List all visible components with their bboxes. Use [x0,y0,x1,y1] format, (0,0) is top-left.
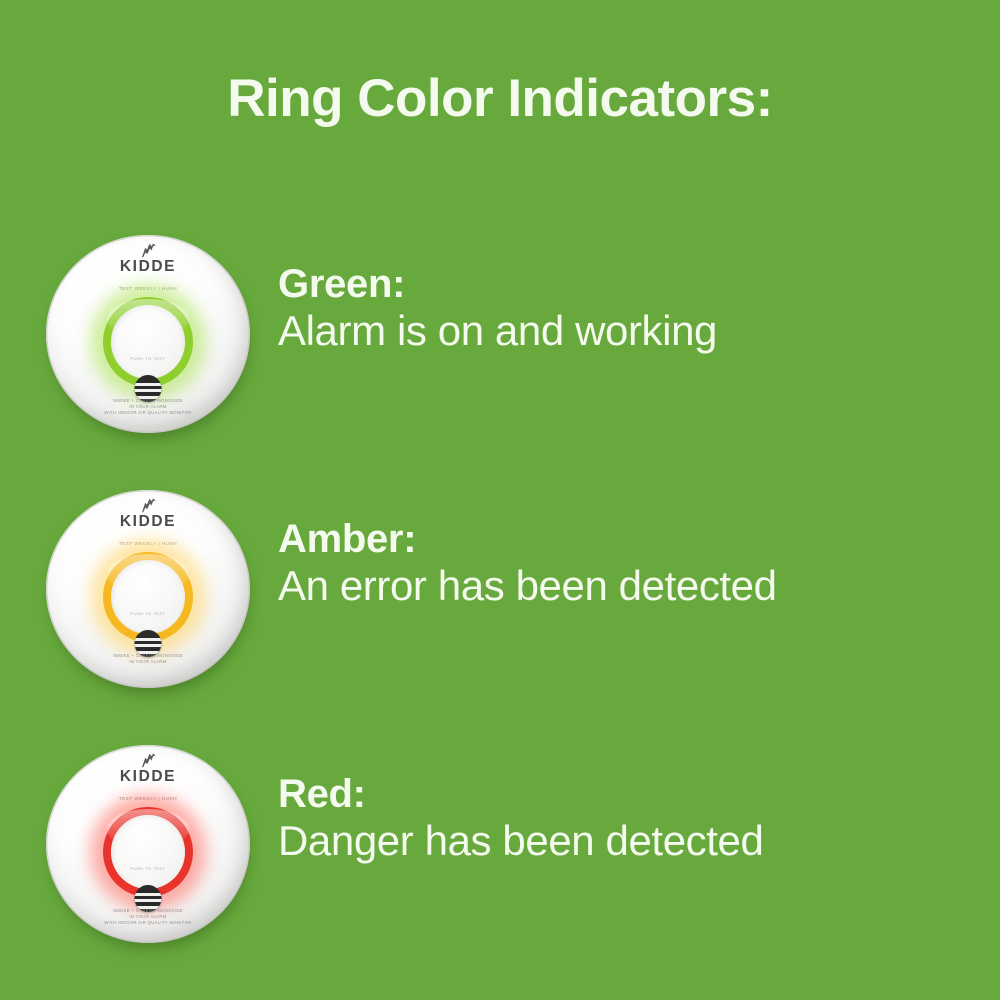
micro-label-push-to-test: PUSH TO TEST [46,611,250,616]
brand-name: KIDDE [46,514,250,530]
indicator-description-amber: An error has been detected [278,561,978,611]
caption-green: Green: Alarm is on and working [278,263,978,356]
indicator-description-red: Danger has been detected [278,816,978,866]
indicator-row-red: KIDDE TEST WEEKLY | HUSH PUSH TO TEST [0,725,1000,965]
brand-block: KIDDE [46,753,250,785]
poster-canvas: Ring Color Indicators: KIDDE TEST WEEKLY… [0,0,1000,1000]
micro-label-product-description: SMOKE + CARBON MONOXIDE IN YOUR ALARM WI… [46,398,250,417]
brand-name: KIDDE [46,769,250,785]
caption-amber: Amber: An error has been detected [278,518,978,611]
micro-label-push-to-test: PUSH TO TEST [46,356,250,361]
smoke-alarm-device-amber: KIDDE TEST WEEKLY | HUSH PUSH TO TEST [46,490,250,694]
ring-inner-face [111,305,185,379]
kidde-flame-k-icon [140,498,157,513]
micro-label-push-to-test: PUSH TO TEST [46,866,250,871]
indicator-ring-green [103,297,193,387]
brand-block: KIDDE [46,243,250,275]
micro-label-product-description: SMOKE + CARBON MONOXIDE IN YOUR ALARM [46,653,250,665]
smoke-alarm-device-red: KIDDE TEST WEEKLY | HUSH PUSH TO TEST [46,745,250,949]
device-body: KIDDE TEST WEEKLY | HUSH PUSH TO TEST [46,235,250,433]
page-title: Ring Color Indicators: [0,68,1000,129]
indicator-ring-red [103,807,193,897]
indicator-ring-amber [103,552,193,642]
indicator-row-amber: KIDDE TEST WEEKLY | HUSH PUSH TO TEST [0,470,1000,710]
indicator-description-green: Alarm is on and working [278,306,978,356]
indicator-label-green: Green: [278,263,978,306]
indicator-label-red: Red: [278,773,978,816]
ring-inner-face [111,815,185,889]
smoke-alarm-device-green: KIDDE TEST WEEKLY | HUSH PUSH TO TEST [46,235,250,439]
caption-red: Red: Danger has been detected [278,773,978,866]
brand-name: KIDDE [46,259,250,275]
micro-label-product-description: SMOKE + CARBON MONOXIDE IN YOUR ALARM WI… [46,908,250,927]
indicator-label-amber: Amber: [278,518,978,561]
ring-inner-face [111,560,185,634]
brand-block: KIDDE [46,498,250,530]
indicator-row-green: KIDDE TEST WEEKLY | HUSH PUSH TO TEST [0,215,1000,455]
device-body: KIDDE TEST WEEKLY | HUSH PUSH TO TEST [46,490,250,688]
kidde-flame-k-icon [140,243,157,258]
device-body: KIDDE TEST WEEKLY | HUSH PUSH TO TEST [46,745,250,943]
kidde-flame-k-icon [140,753,157,768]
